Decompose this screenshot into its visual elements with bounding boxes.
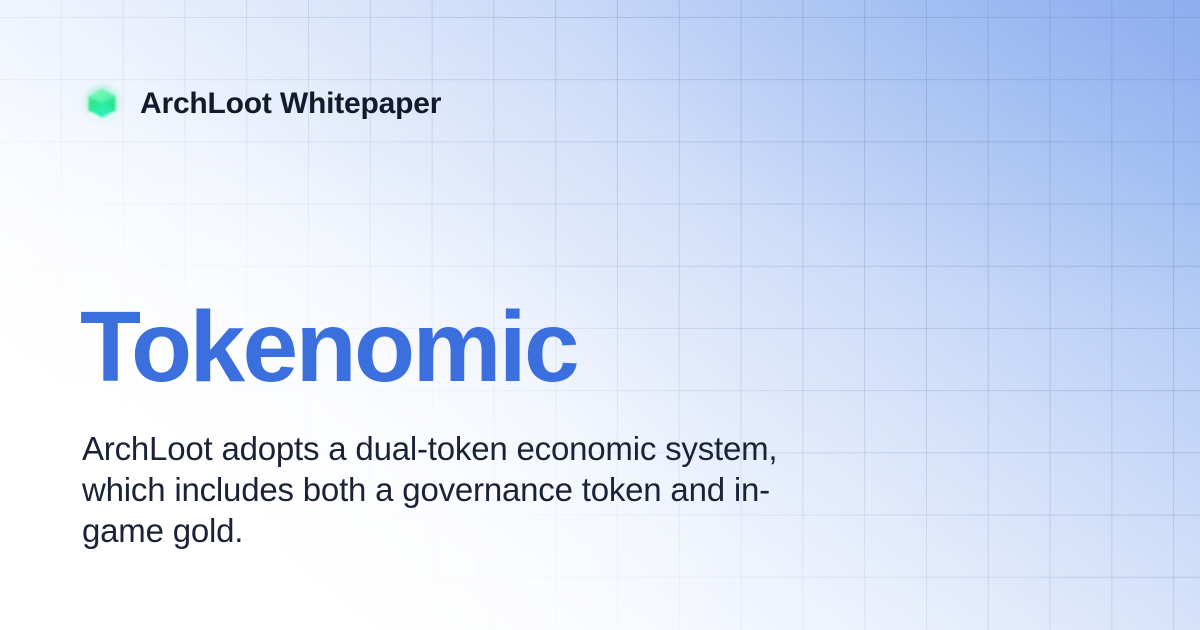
- whitepaper-cover-card: ArchLoot Whitepaper Tokenomic ArchLoot a…: [0, 0, 1200, 630]
- page-title: Tokenomic: [80, 297, 577, 397]
- brand-header: ArchLoot Whitepaper: [82, 82, 441, 126]
- page-description: ArchLoot adopts a dual-token economic sy…: [82, 428, 842, 551]
- brand-title: ArchLoot Whitepaper: [140, 89, 441, 119]
- archloot-cube-icon: [82, 84, 122, 124]
